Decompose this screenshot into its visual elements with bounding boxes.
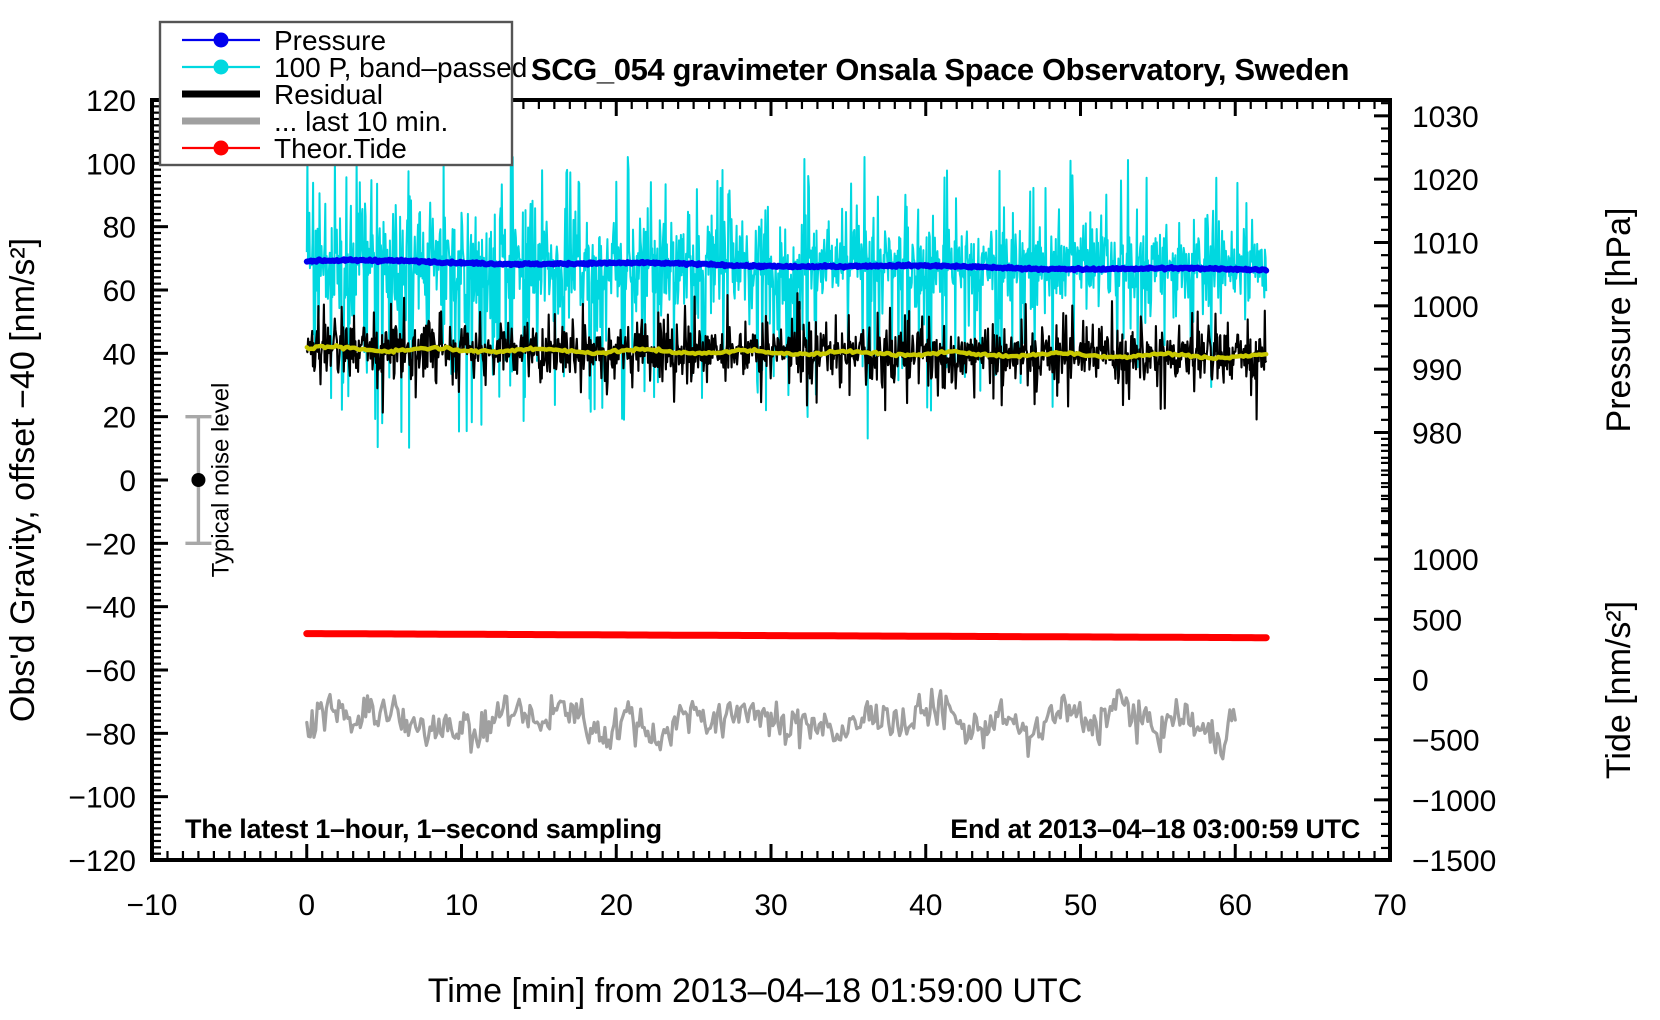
y-tick-label: 0 (119, 465, 136, 498)
tide-tick-label: −500 (1412, 725, 1480, 758)
noise-level-label: Typical noise level (207, 383, 234, 578)
series-theoretical-tide-line (307, 634, 1266, 638)
pressure-tick-label: 1030 (1412, 101, 1479, 134)
legend-label-4: Theor.Tide (274, 133, 407, 164)
tide-tick-label: 1000 (1412, 544, 1479, 577)
legend: Pressure100 P, band–passedResidual... la… (160, 22, 527, 165)
tide-tick-label: −1500 (1412, 845, 1496, 878)
y-tick-label: −40 (85, 592, 136, 625)
end-time-note: End at 2013–04–18 03:00:59 UTC (950, 814, 1360, 844)
page-title: SCG_054 gravimeter Onsala Space Observat… (531, 52, 1349, 87)
y-tick-label: −80 (85, 718, 136, 751)
y-tick-label: −100 (68, 782, 136, 815)
y-tick-label: 20 (103, 402, 136, 435)
x-tick-label: −10 (127, 889, 178, 922)
pressure-axis-title: Pressure [hPa] (1600, 208, 1638, 433)
legend-marker-1 (214, 60, 229, 75)
x-tick-label: 10 (445, 889, 478, 922)
tide-axis-title: Tide [nm/s²] (1600, 601, 1638, 779)
x-axis-title: Time [min] from 2013–04–18 01:59:00 UTC (428, 972, 1083, 1010)
y-tick-label: −20 (85, 528, 136, 561)
chart-page: −10010203040506070 120100806040200−20−40… (0, 0, 1660, 1020)
y-tick-label: 40 (103, 338, 136, 371)
x-tick-label: 70 (1373, 889, 1406, 922)
sampling-note: The latest 1–hour, 1–second sampling (185, 814, 662, 844)
x-tick-label: 50 (1064, 889, 1097, 922)
legend-marker-0 (214, 33, 229, 48)
gravimeter-time-series-chart: −10010203040506070 120100806040200−20−40… (0, 0, 1660, 1020)
tide-tick-label: 0 (1412, 665, 1429, 698)
pressure-tick-label: 990 (1412, 354, 1462, 387)
legend-marker-4 (214, 141, 229, 156)
y-tick-label: −60 (85, 655, 136, 688)
y-tick-label: 100 (86, 148, 136, 181)
y-tick-label: 120 (86, 85, 136, 118)
pressure-tick-label: 1010 (1412, 228, 1479, 261)
y-axis-title: Obs'd Gravity, offset −40 [nm/s²] (4, 238, 42, 722)
tide-tick-label: −1000 (1412, 785, 1496, 818)
pressure-tick-label: 980 (1412, 418, 1462, 451)
x-tick-label: 40 (909, 889, 942, 922)
x-tick-label: 0 (298, 889, 315, 922)
y-tick-label: 80 (103, 212, 136, 245)
y-tick-label: 60 (103, 275, 136, 308)
y-tick-label: −120 (68, 845, 136, 878)
x-tick-label: 60 (1219, 889, 1252, 922)
pressure-tick-label: 1000 (1412, 291, 1479, 324)
x-tick-label: 30 (754, 889, 787, 922)
noise-center-dot (191, 473, 205, 487)
x-tick-label: 20 (600, 889, 633, 922)
pressure-tick-label: 1020 (1412, 164, 1479, 197)
tide-tick-label: 500 (1412, 604, 1462, 637)
